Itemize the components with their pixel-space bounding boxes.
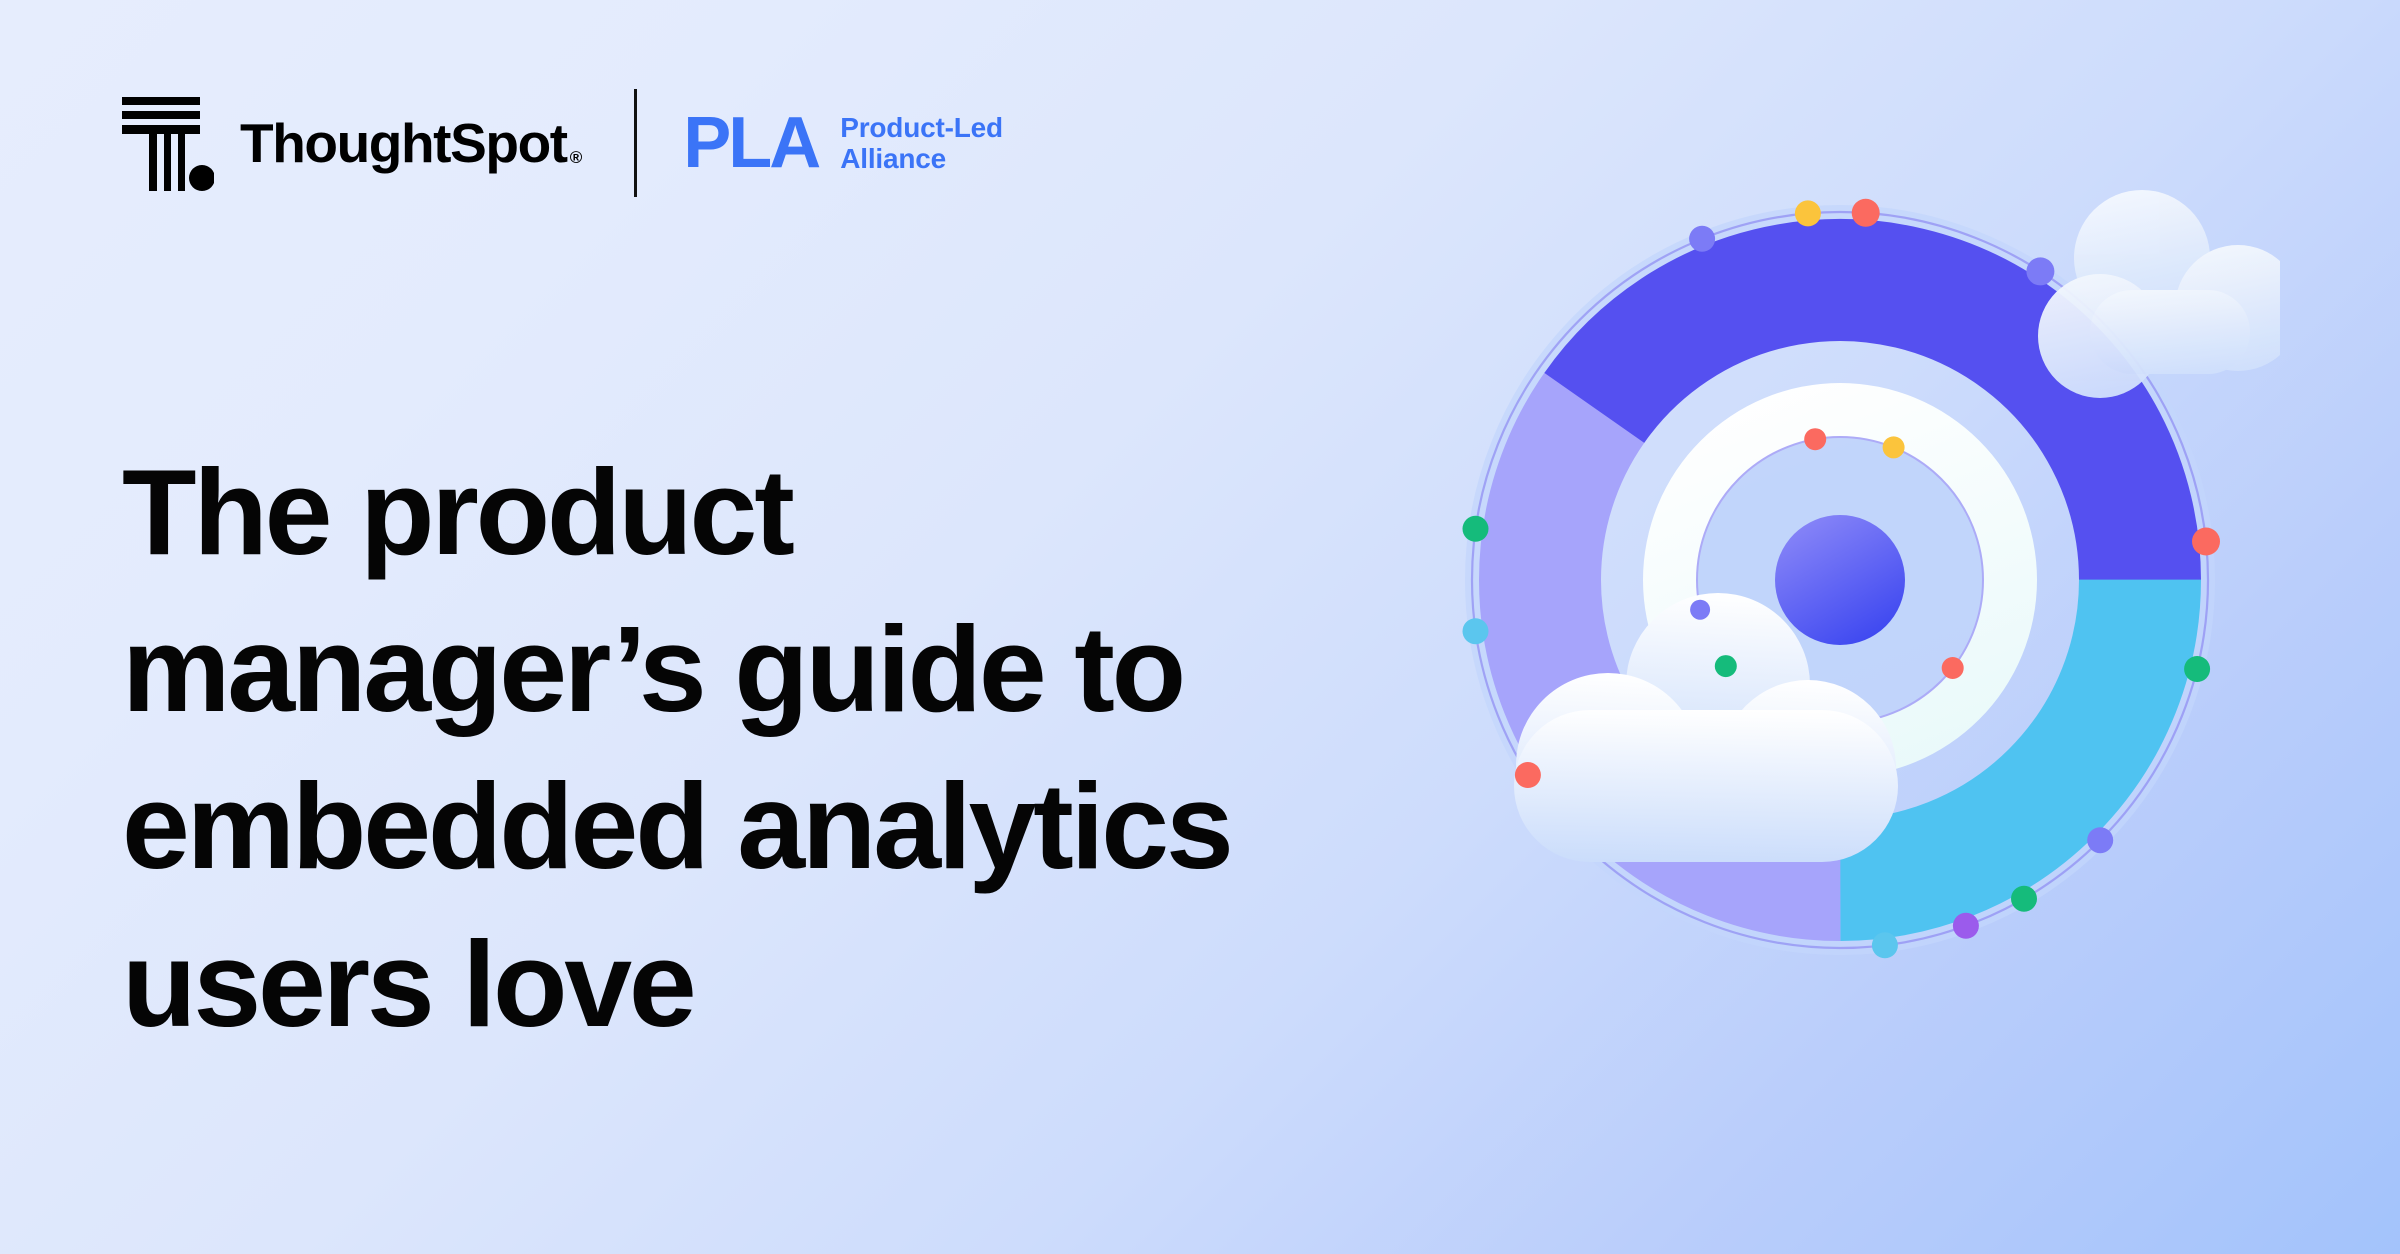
- product-led-alliance-logo[interactable]: PLA Product-Led Alliance: [683, 109, 1003, 177]
- logo-divider: [634, 89, 637, 197]
- pla-full-name: Product-Led Alliance: [840, 112, 1003, 175]
- dot-green: [1715, 655, 1737, 677]
- dot-periwinkle: [1690, 600, 1710, 620]
- center-dot: [1775, 515, 1905, 645]
- headline-line-3: embedded analytics: [122, 748, 1402, 905]
- promo-banner: ThoughtSpot ® PLA Product-Led Alliance T…: [0, 0, 2400, 1254]
- dot-cyan: [1463, 618, 1489, 644]
- registered-mark: ®: [570, 148, 583, 168]
- dot-yellow: [1795, 200, 1821, 226]
- cloud-small-top-right: [2038, 190, 2280, 398]
- thoughtspot-wordmark-text: ThoughtSpot: [240, 116, 567, 171]
- dot-red: [1515, 762, 1541, 788]
- page-title: The product manager’s guide to embedded …: [122, 434, 1402, 1064]
- dot-cyan: [1872, 932, 1898, 958]
- dot-periwinkle: [2087, 827, 2113, 853]
- dot-periwinkle: [1689, 226, 1715, 252]
- pla-name-line-2: Alliance: [840, 143, 1003, 174]
- dot-periwinkle: [2026, 257, 2054, 285]
- dot-green: [2184, 656, 2210, 682]
- dot-purple: [1953, 913, 1979, 939]
- thoughtspot-logo[interactable]: ThoughtSpot ®: [122, 95, 582, 191]
- thoughtspot-wordmark: ThoughtSpot ®: [240, 116, 582, 171]
- logo-bar: ThoughtSpot ® PLA Product-Led Alliance: [122, 88, 1003, 198]
- dot-yellow: [1883, 436, 1905, 458]
- dot-red: [2192, 528, 2220, 556]
- pla-abbreviation: PLA: [683, 109, 818, 177]
- dot-green: [1463, 516, 1489, 542]
- headline-line-2: manager’s guide to: [122, 591, 1402, 748]
- embedded-analytics-illustration: [1400, 140, 2280, 1020]
- thoughtspot-pillar-icon: [122, 95, 214, 191]
- dot-red: [1852, 199, 1880, 227]
- pla-name-line-1: Product-Led: [840, 112, 1003, 143]
- dot-red: [1804, 428, 1826, 450]
- headline-line-1: The product: [122, 434, 1402, 591]
- headline-line-4: users love: [122, 906, 1402, 1063]
- dot-green: [2011, 886, 2037, 912]
- dot-red: [1942, 657, 1964, 679]
